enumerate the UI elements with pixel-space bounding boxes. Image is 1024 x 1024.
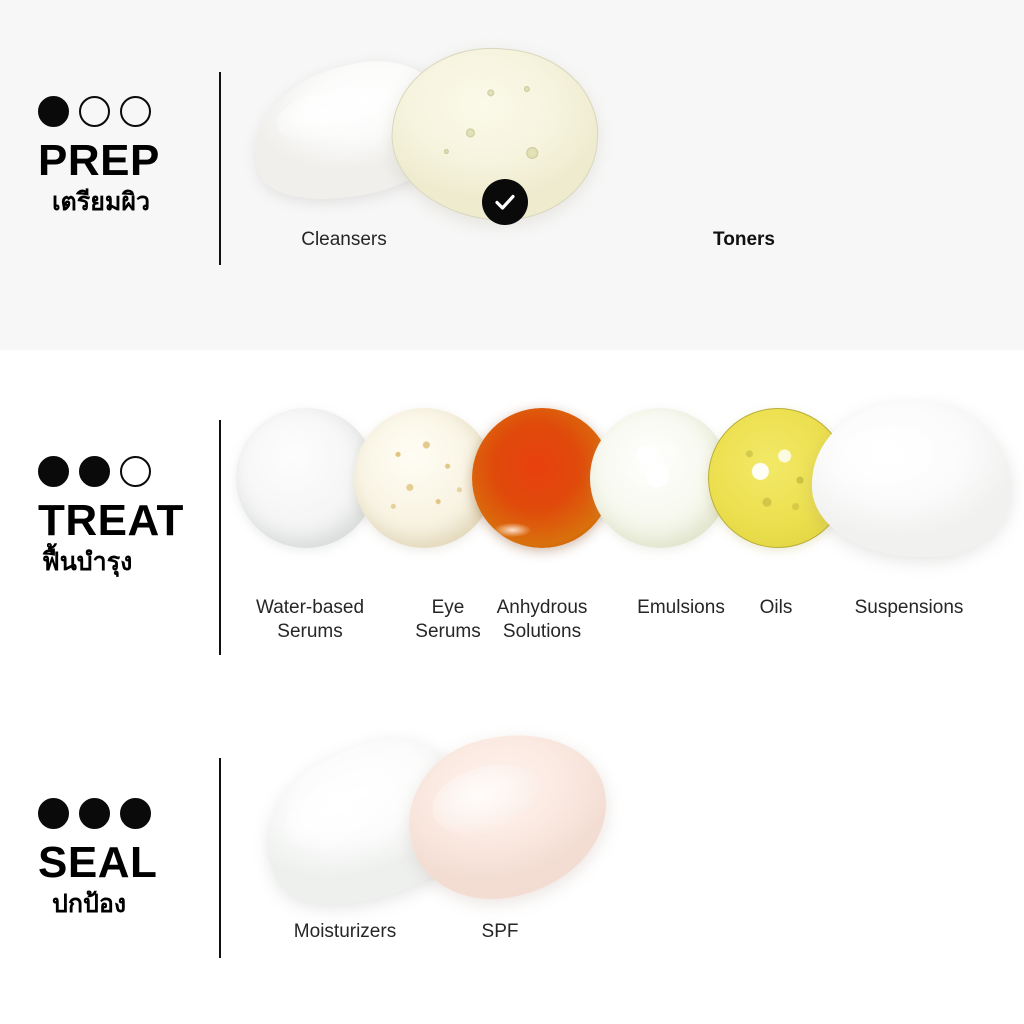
bubble-dot: [466, 128, 476, 138]
progress-dot-empty: [120, 456, 151, 487]
progress-dot-filled: [38, 456, 69, 487]
progress-dots-treat: [38, 456, 184, 487]
section-seal: SEAL ปกป้อง Moisturizers SPF: [0, 720, 1024, 1024]
check-icon: [482, 179, 528, 225]
section-treat: TREAT ฟื้นบำรุง Water-based Serums Eye S…: [0, 350, 1024, 720]
stage-label-treat: TREAT ฟื้นบำรุง: [38, 456, 184, 578]
progress-dot-empty: [120, 96, 151, 127]
infographic-page: PREP เตรียมผิว Cleansers Toners: [0, 0, 1024, 1024]
progress-dots-prep: [38, 96, 160, 127]
swatch-spf: [392, 714, 625, 918]
product-label-toners[interactable]: Toners: [644, 228, 844, 252]
product-label-spf[interactable]: SPF: [440, 920, 560, 944]
stage-label-prep: PREP เตรียมผิว: [38, 96, 160, 218]
progress-dot-filled: [120, 798, 151, 829]
bubble-dot: [487, 89, 495, 97]
section-divider-prep: [219, 72, 221, 265]
stage-subtitle-seal: ปกป้อง: [38, 889, 157, 920]
stage-label-seal: SEAL ปกป้อง: [38, 798, 157, 920]
stage-title-seal: SEAL: [38, 841, 157, 885]
progress-dot-empty: [79, 96, 110, 127]
product-label-cleansers[interactable]: Cleansers: [240, 228, 448, 252]
product-label-anhydrous-solutions[interactable]: Anhydrous Solutions: [462, 596, 622, 644]
progress-dot-filled: [38, 798, 69, 829]
swatch-group-prep: [240, 44, 1010, 214]
stage-title-prep: PREP: [38, 139, 160, 183]
progress-dots-seal: [38, 798, 157, 829]
bubble-dot: [444, 149, 449, 154]
stage-subtitle-treat: ฟื้นบำรุง: [38, 547, 184, 578]
progress-dot-filled: [38, 96, 69, 127]
progress-dot-filled: [79, 798, 110, 829]
swatch-group-seal: [240, 730, 1010, 905]
section-divider-seal: [219, 758, 221, 958]
section-divider-treat: [219, 420, 221, 655]
swatch-suspensions: [812, 402, 1012, 557]
stage-title-treat: TREAT: [38, 499, 184, 543]
product-label-moisturizers[interactable]: Moisturizers: [240, 920, 450, 944]
section-prep: PREP เตรียมผิว Cleansers Toners: [0, 0, 1024, 350]
bubble-dot: [525, 146, 538, 159]
swatch-group-treat: [236, 408, 1016, 558]
bubble-dot: [524, 86, 531, 93]
product-label-water-based-serums[interactable]: Water-based Serums: [230, 596, 390, 644]
stage-subtitle-prep: เตรียมผิว: [38, 187, 160, 218]
product-label-suspensions[interactable]: Suspensions: [814, 596, 1004, 620]
progress-dot-filled: [79, 456, 110, 487]
